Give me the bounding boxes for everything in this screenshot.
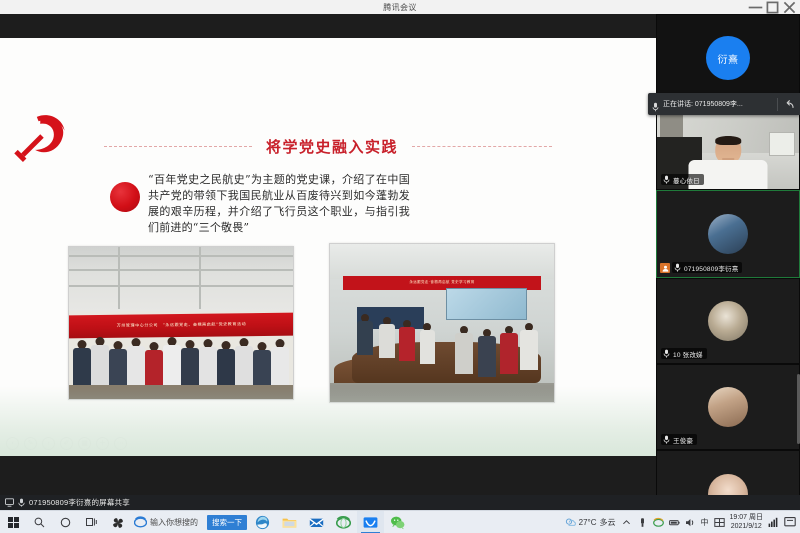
participant-tile[interactable]: 蔓心依日 bbox=[656, 102, 800, 190]
cloudy-weather-icon bbox=[565, 517, 576, 528]
ime-keyboard-icon[interactable] bbox=[714, 517, 725, 528]
title-divider-left bbox=[104, 146, 252, 147]
speaking-text: 正在讲话: 071950809李... bbox=[663, 99, 773, 109]
taskbar-app-wechat[interactable] bbox=[384, 511, 411, 533]
meeting-stage: 将学党史融入实践 “百年党史之民航史”为主题的党史课，介绍了在中国共产党的带领下… bbox=[0, 14, 800, 495]
share-status-text: 071950809李衍熹的屏幕共享 bbox=[29, 497, 130, 508]
window-controls bbox=[747, 0, 798, 14]
photo-conference-room-lecture: 永远跟党走·奋楫再启航 党史学习教育 bbox=[329, 243, 555, 403]
search-input[interactable]: 输入你想搜的 bbox=[150, 517, 198, 528]
participant-tile[interactable]: 衍熹 bbox=[656, 14, 800, 102]
more-options-icon[interactable]: ⋯ bbox=[114, 437, 127, 450]
weather-temperature: 27°C bbox=[579, 518, 597, 527]
microphone-icon bbox=[663, 435, 670, 444]
battery-icon[interactable] bbox=[669, 517, 680, 528]
slide-title-row: 将学党史融入实践 bbox=[0, 134, 656, 158]
task-view-icon[interactable] bbox=[78, 511, 104, 533]
participant-name-badge: 王俊豪 bbox=[661, 434, 697, 445]
volume-icon[interactable] bbox=[685, 517, 696, 528]
search-icon[interactable] bbox=[26, 511, 52, 533]
host-badge bbox=[660, 263, 670, 273]
shared-screen-region[interactable]: 将学党史融入实践 “百年党史之民航史”为主题的党史课，介绍了在中国共产党的带领下… bbox=[0, 14, 656, 495]
microphone-icon bbox=[17, 498, 26, 507]
close-button[interactable] bbox=[781, 0, 798, 14]
taskbar-app-tencent-meeting[interactable] bbox=[357, 511, 384, 533]
search-submit-button[interactable]: 搜索一下 bbox=[207, 515, 247, 530]
pinwheel-app-icon[interactable] bbox=[104, 511, 130, 533]
taskbar-app-internet-explorer[interactable] bbox=[330, 511, 357, 533]
participant-name-badge: 10 张改娣 bbox=[661, 348, 707, 359]
slide-paragraph: “百年党史之民航史”为主题的党史课，介绍了在中国共产党的带领下我国民航业从百废待… bbox=[148, 172, 410, 236]
pointer-icon[interactable]: ✎ bbox=[24, 437, 37, 450]
window-title: 腾讯会议 bbox=[383, 2, 417, 13]
windows-taskbar: 输入你想搜的 搜索一下 bbox=[0, 510, 800, 533]
usb-device-icon[interactable] bbox=[637, 517, 648, 528]
taskbar-app-file-explorer[interactable] bbox=[276, 511, 303, 533]
participant-name-badge: 蔓心依日 bbox=[661, 174, 704, 185]
taskbar-clock[interactable]: 19:07 周日 2021/9/12 bbox=[730, 513, 763, 531]
slideshow-toolbar[interactable]: ‹ ✎ › ✐ ▦ ＋ ⋯ bbox=[6, 437, 127, 450]
microphone-icon bbox=[652, 99, 659, 109]
photo-group-under-red-banner: 万州管理中心分公司 “永远跟党走、奋楫再启航”党史教育活动 bbox=[68, 246, 294, 400]
browser-tray-icon[interactable] bbox=[653, 517, 664, 528]
return-arrow-icon[interactable] bbox=[782, 97, 796, 111]
windows-start-icon[interactable] bbox=[0, 511, 26, 533]
participant-name: 071950809李衍熹 bbox=[684, 263, 738, 273]
participant-rail[interactable]: 衍熹 蔓心依日 bbox=[656, 14, 800, 495]
ime-language-indicator[interactable]: 中 bbox=[701, 517, 709, 528]
maximize-button[interactable] bbox=[764, 0, 781, 14]
next-slide-icon[interactable]: › bbox=[42, 437, 55, 450]
microphone-icon bbox=[663, 349, 670, 358]
avatar bbox=[708, 387, 748, 427]
taskbar-app-edge[interactable] bbox=[249, 511, 276, 533]
chevron-up-icon[interactable] bbox=[621, 517, 632, 528]
system-tray: 27°C 多云 中 19:07 周日 2021/9/12 bbox=[565, 511, 800, 533]
microphone-icon bbox=[674, 263, 681, 272]
internet-explorer-icon bbox=[134, 516, 147, 529]
avatar-initials: 衍熹 bbox=[718, 51, 739, 66]
participant-name-badge: 071950809李衍熹 bbox=[672, 262, 742, 273]
avatar bbox=[708, 301, 748, 341]
taskbar-app-mail[interactable] bbox=[303, 511, 330, 533]
notification-center-icon[interactable] bbox=[784, 516, 796, 528]
microphone-icon bbox=[663, 175, 670, 184]
participant-name: 10 张改娣 bbox=[673, 349, 703, 359]
monitor-share-icon bbox=[5, 498, 14, 507]
speaking-notification[interactable]: 正在讲话: 071950809李... bbox=[648, 93, 800, 115]
pen-icon[interactable]: ✐ bbox=[60, 437, 73, 450]
red-dot-bullet-icon bbox=[110, 182, 140, 212]
title-divider-right bbox=[412, 146, 552, 147]
slide-title: 将学党史融入实践 bbox=[266, 136, 398, 157]
weather-description: 多云 bbox=[600, 517, 616, 528]
participant-name: 王俊豪 bbox=[673, 435, 693, 445]
toast-divider bbox=[777, 98, 778, 111]
cortana-circle-icon[interactable] bbox=[52, 511, 78, 533]
network-signal-icon[interactable] bbox=[768, 517, 779, 528]
avatar: 衍熹 bbox=[706, 36, 750, 80]
screen-share-status-bar: 071950809李衍熹的屏幕共享 bbox=[0, 495, 800, 510]
weather-widget[interactable]: 27°C 多云 bbox=[565, 517, 616, 528]
previous-slide-icon[interactable]: ‹ bbox=[6, 437, 19, 450]
participant-tile[interactable]: 王俊豪 bbox=[656, 364, 800, 450]
clock-time: 19:07 周日 bbox=[730, 513, 763, 522]
avatar bbox=[708, 214, 748, 254]
participant-name: 蔓心依日 bbox=[673, 175, 700, 185]
slide-overview-icon[interactable]: ▦ bbox=[78, 437, 91, 450]
presentation-slide[interactable]: 将学党史融入实践 “百年党史之民航史”为主题的党史课，介绍了在中国共产党的带领下… bbox=[0, 38, 656, 456]
taskbar-search-box[interactable]: 输入你想搜的 搜索一下 bbox=[132, 513, 249, 532]
window-title-bar: 腾讯会议 bbox=[0, 0, 800, 14]
minimize-button[interactable] bbox=[747, 0, 764, 14]
participant-tile-active-speaker[interactable]: 071950809李衍熹 bbox=[656, 190, 800, 278]
clock-date: 2021/9/12 bbox=[730, 522, 763, 531]
participant-tile[interactable]: 10 张改娣 bbox=[656, 278, 800, 364]
zoom-icon[interactable]: ＋ bbox=[96, 437, 109, 450]
